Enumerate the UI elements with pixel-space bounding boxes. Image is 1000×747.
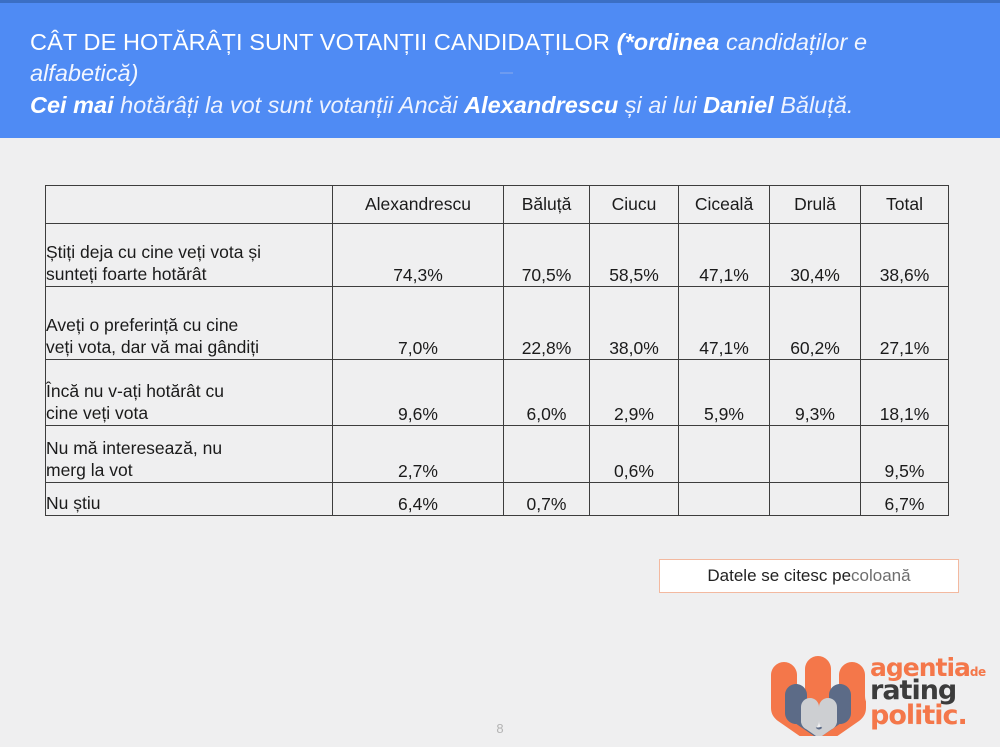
row-label: Aveți o preferință cu cineveți vota, dar… bbox=[46, 287, 333, 360]
subtitle-seg-2: hotărâți la vot sunt bbox=[120, 92, 319, 118]
cell-value: 60,2% bbox=[770, 287, 861, 360]
cell-value bbox=[770, 483, 861, 516]
table-header-row: Alexandrescu Băluță Ciucu Ciceală Drulă … bbox=[46, 186, 949, 224]
logo-line-politic: politic. bbox=[870, 704, 986, 729]
cell-value: 6,0% bbox=[504, 360, 590, 426]
subtitle-seg-6: Daniel bbox=[703, 92, 780, 118]
results-table: Alexandrescu Băluță Ciucu Ciceală Drulă … bbox=[45, 185, 949, 516]
row-label: Nu știu bbox=[46, 483, 333, 516]
cell-value: 70,5% bbox=[504, 224, 590, 287]
cell-value: 6,7% bbox=[861, 483, 949, 516]
table-header-alexandrescu: Alexandrescu bbox=[333, 186, 504, 224]
subtitle-seg-1: Cei mai bbox=[30, 92, 120, 118]
cell-value: 5,9% bbox=[679, 360, 770, 426]
table-header-blank bbox=[46, 186, 333, 224]
cell-value: 7,0% bbox=[333, 287, 504, 360]
cell-value: 74,3% bbox=[333, 224, 504, 287]
reading-note-callout: Datele se citesc pe coloană bbox=[659, 559, 959, 593]
logo-word-de: de bbox=[970, 665, 986, 679]
brand-logo: agentiade rating politic. bbox=[770, 650, 985, 740]
title-emphasis-bold: (*ordinea bbox=[617, 29, 726, 55]
header-banner: CÂT DE HOTĂRÂȚI SUNT VOTANȚII CANDIDAȚIL… bbox=[0, 0, 1000, 138]
table-row: Aveți o preferință cu cineveți vota, dar… bbox=[46, 287, 949, 360]
note-text-primary: Datele se citesc pe bbox=[707, 566, 851, 586]
cell-value: 27,1% bbox=[861, 287, 949, 360]
cell-value: 9,5% bbox=[861, 426, 949, 483]
table-header-ciceala: Ciceală bbox=[679, 186, 770, 224]
row-label-line2: veți vota, dar vă mai gândiți bbox=[46, 337, 259, 357]
table-header-drula: Drulă bbox=[770, 186, 861, 224]
title-emphasis-light: candidaților e bbox=[726, 29, 867, 55]
stray-dash-artifact bbox=[500, 72, 513, 74]
cell-value: 0,7% bbox=[504, 483, 590, 516]
table-row: Nu mă interesează, numerg la vot 2,7% 0,… bbox=[46, 426, 949, 483]
table-header-baluta: Băluță bbox=[504, 186, 590, 224]
title-main-text: CÂT DE HOTĂRÂȚI SUNT VOTANȚII CANDIDAȚIL… bbox=[30, 29, 617, 55]
row-label: Știți deja cu cine veți vota șisunteți f… bbox=[46, 224, 333, 287]
subtitle-seg-7: Băluță. bbox=[780, 92, 853, 118]
table-row: Încă nu v-ați hotărât cucine veți vota 9… bbox=[46, 360, 949, 426]
row-label-line2: merg la vot bbox=[46, 460, 133, 480]
logo-wordmark: agentiade rating politic. bbox=[870, 656, 986, 729]
cell-value: 58,5% bbox=[590, 224, 679, 287]
row-label-line1: Știți deja cu cine veți vota și bbox=[46, 242, 261, 262]
cell-value: 2,9% bbox=[590, 360, 679, 426]
row-label-line1: Nu mă interesează, nu bbox=[46, 438, 222, 458]
cell-value: 18,1% bbox=[861, 360, 949, 426]
cell-value: 0,6% bbox=[590, 426, 679, 483]
cell-value: 47,1% bbox=[679, 287, 770, 360]
cell-value: 6,4% bbox=[333, 483, 504, 516]
title-line-1: CÂT DE HOTĂRÂȚI SUNT VOTANȚII CANDIDAȚIL… bbox=[30, 27, 982, 58]
table-row: Nu știu 6,4% 0,7% 6,7% bbox=[46, 483, 949, 516]
cell-value: 47,1% bbox=[679, 224, 770, 287]
cell-value: 9,3% bbox=[770, 360, 861, 426]
row-label-line1: Încă nu v-ați hotărât cu bbox=[46, 381, 224, 401]
cell-value bbox=[770, 426, 861, 483]
row-label: Nu mă interesează, numerg la vot bbox=[46, 426, 333, 483]
cell-value bbox=[679, 483, 770, 516]
subtitle-seg-4: Alexandrescu bbox=[464, 92, 625, 118]
cell-value bbox=[679, 426, 770, 483]
title-line-3: Cei mai hotărâți la vot sunt votanții An… bbox=[30, 90, 982, 121]
table-row: Știți deja cu cine veți vota șisunteți f… bbox=[46, 224, 949, 287]
row-label: Încă nu v-ați hotărât cucine veți vota bbox=[46, 360, 333, 426]
logo-heart-mark bbox=[770, 654, 866, 736]
note-text-accent: coloană bbox=[851, 566, 911, 586]
table-header-total: Total bbox=[861, 186, 949, 224]
cell-value bbox=[590, 483, 679, 516]
cell-value: 2,7% bbox=[333, 426, 504, 483]
table-header-ciucu: Ciucu bbox=[590, 186, 679, 224]
row-label-line2: sunteți foarte hotărât bbox=[46, 264, 207, 284]
cell-value: 22,8% bbox=[504, 287, 590, 360]
subtitle-seg-3: votanții Ancăi bbox=[319, 92, 464, 118]
row-label-line2: cine veți vota bbox=[46, 403, 148, 423]
row-label-line1: Aveți o preferință cu cine bbox=[46, 315, 238, 335]
subtitle-seg-5: și ai lui bbox=[625, 92, 703, 118]
cell-value: 9,6% bbox=[333, 360, 504, 426]
cell-value bbox=[504, 426, 590, 483]
cell-value: 38,6% bbox=[861, 224, 949, 287]
cell-value: 38,0% bbox=[590, 287, 679, 360]
cell-value: 30,4% bbox=[770, 224, 861, 287]
